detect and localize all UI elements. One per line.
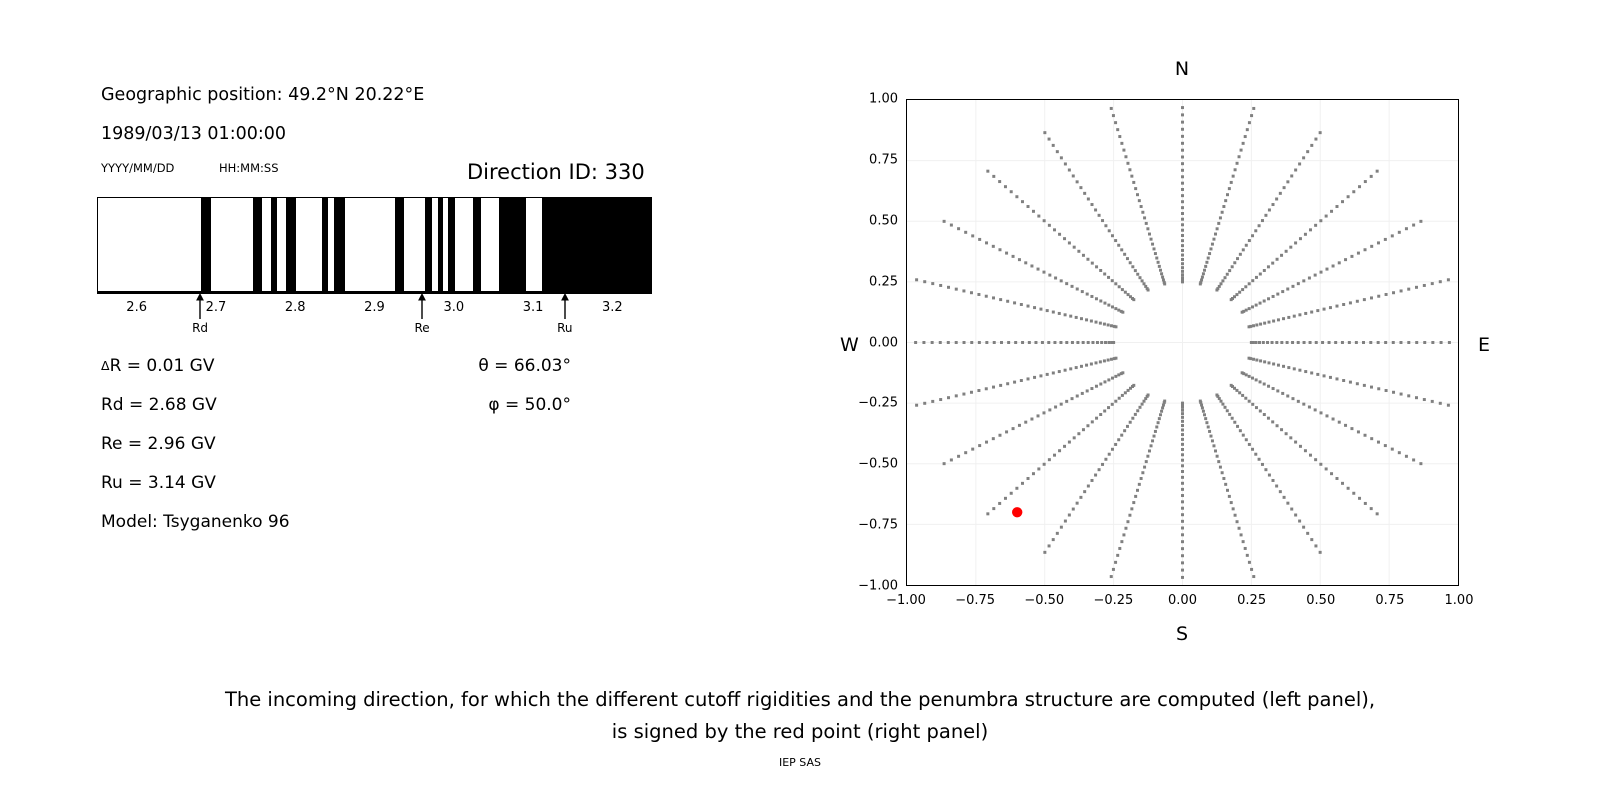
sky-map-y-tick-label: 0.00 <box>869 335 898 350</box>
sky-map-x-tick-label: −1.00 <box>886 593 926 608</box>
sky-map-y-tick-label: −0.75 <box>858 518 898 533</box>
sky-map-x-tick-label: −0.25 <box>1093 593 1133 608</box>
compass-east-label: E <box>1478 334 1490 356</box>
sky-map-x-tick-label: −0.75 <box>955 593 995 608</box>
sky-map-y-tick-label: 0.75 <box>869 152 898 167</box>
sky-map-y-tick-label: 0.50 <box>869 213 898 228</box>
sky-map-x-tick-label: 0.00 <box>1168 593 1197 608</box>
sky-map-y-tick-label: 0.25 <box>869 274 898 289</box>
selected-direction-point[interactable] <box>1012 507 1022 517</box>
footer-credit: IEP SAS <box>0 756 1600 769</box>
sky-map-y-tick-label: 1.00 <box>869 92 898 107</box>
sky-map-y-tick-label: −1.00 <box>858 579 898 594</box>
compass-west-label: W <box>840 334 859 356</box>
caption-line-2: is signed by the red point (right panel) <box>0 716 1600 748</box>
compass-north-label: N <box>1175 58 1189 80</box>
figure-caption: The incoming direction, for which the di… <box>0 684 1600 748</box>
sky-map-x-tick-label: −0.50 <box>1024 593 1064 608</box>
caption-line-1: The incoming direction, for which the di… <box>0 684 1600 716</box>
sky-map-panel: −1.00−0.75−0.50−0.250.000.250.500.751.00… <box>0 0 1600 660</box>
sky-map-x-tick-label: 1.00 <box>1445 593 1474 608</box>
sky-map-x-tick-label: 0.75 <box>1375 593 1404 608</box>
sky-map-axes <box>906 99 1459 586</box>
sky-map-y-tick-label: −0.25 <box>858 396 898 411</box>
sky-map-x-tick-label: 0.25 <box>1237 593 1266 608</box>
sky-map-scatter <box>907 100 1458 585</box>
compass-south-label: S <box>1176 623 1188 645</box>
sky-map-x-tick-label: 0.50 <box>1306 593 1335 608</box>
sky-map-y-tick-label: −0.50 <box>858 457 898 472</box>
